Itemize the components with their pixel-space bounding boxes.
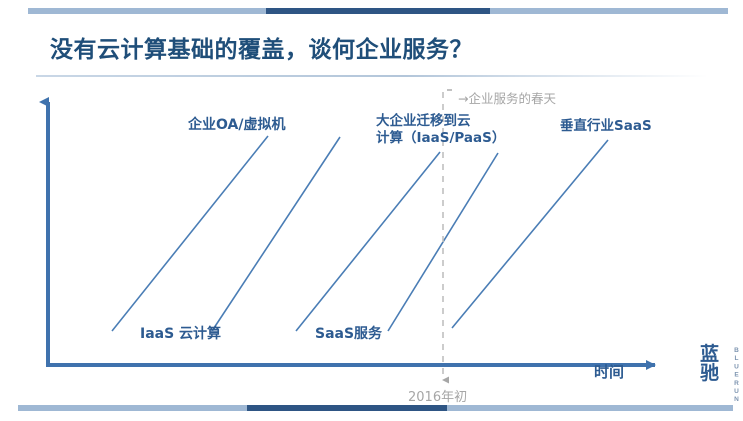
wave-line-1	[112, 136, 268, 331]
wave-line-3	[296, 152, 440, 331]
bluerun-logo: 蓝驰 BLUERUN	[700, 345, 740, 397]
wave-line-5	[452, 140, 608, 328]
wave-line-2	[212, 137, 340, 331]
label-enterprise-oa: 企业OA/虚拟机	[188, 117, 285, 135]
x-axis-label-time: 时间	[594, 363, 624, 382]
label-enterprise-migration-line2: 计算（IaaS/PaaS）	[376, 130, 505, 147]
growth-waves-chart	[0, 0, 743, 421]
label-enterprise-migration-line1: 大企业迁移到云	[376, 113, 505, 130]
logo-chinese-text: 蓝驰	[700, 345, 731, 384]
annotation-early-2016: 2016年初	[408, 386, 467, 405]
label-vertical-saas: 垂直行业SaaS	[560, 118, 652, 135]
slide-canvas: 没有云计算基础的覆盖，谈何企业服务？ 企业OA/虚拟机 大企业迁移到云	[0, 0, 743, 421]
label-enterprise-migration: 大企业迁移到云 计算（IaaS/PaaS）	[376, 113, 505, 147]
bottom-decorative-bar	[18, 405, 733, 411]
wave-lines	[112, 136, 608, 331]
label-iaas-cloud: IaaS 云计算	[140, 326, 221, 344]
logo-latin-text: BLUERUN	[733, 347, 740, 404]
annotation-enterprise-service-spring: →企业服务的春天	[458, 88, 556, 107]
label-saas-service: SaaS服务	[315, 326, 382, 344]
